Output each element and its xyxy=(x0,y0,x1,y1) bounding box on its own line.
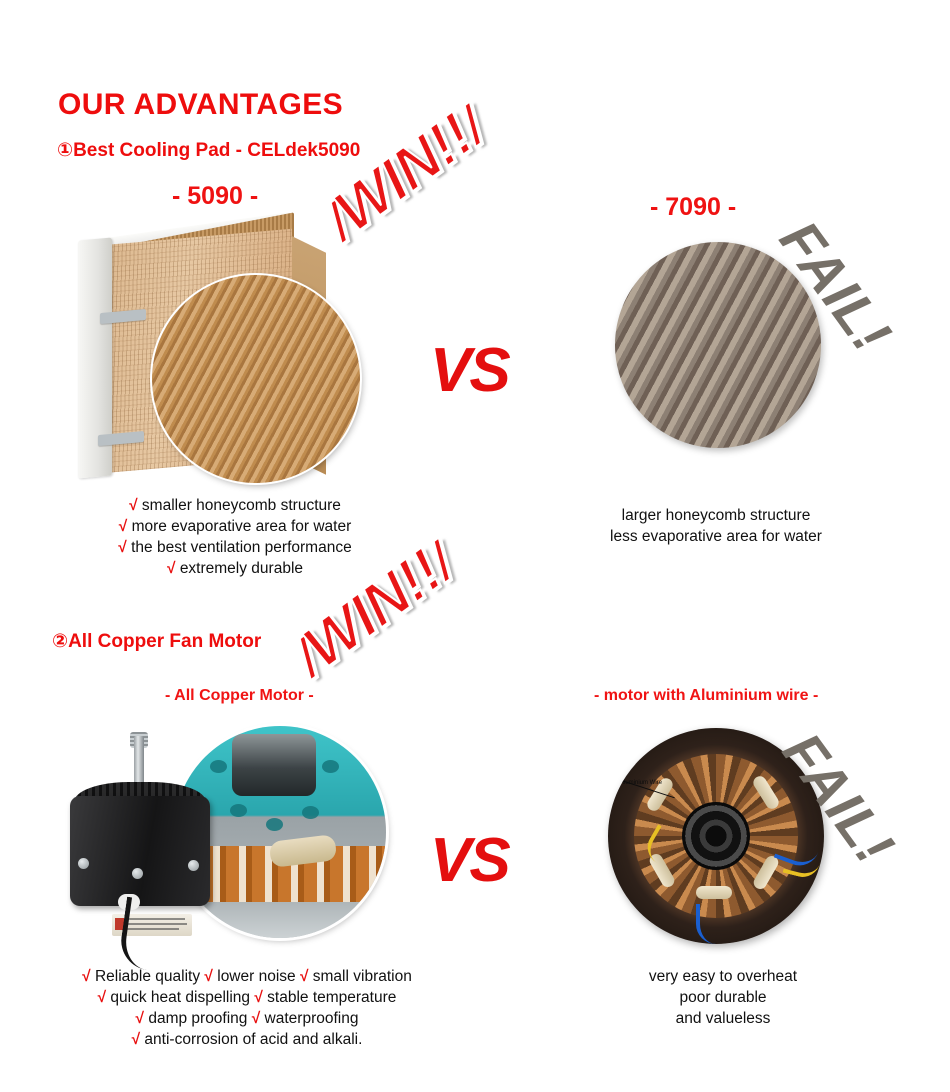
check-icon: √ xyxy=(300,968,309,985)
motor-vent-hole xyxy=(266,818,283,831)
model-label-7090: - 7090 - xyxy=(650,193,736,222)
check-icon: √ xyxy=(254,989,263,1006)
check-icon: √ xyxy=(204,968,213,985)
blue-lead-wire xyxy=(696,904,722,944)
caption-line: √ damp proofing √ waterproofing xyxy=(52,1008,442,1029)
model-label-5090: - 5090 - xyxy=(172,182,258,211)
motor-bolt xyxy=(78,858,89,869)
caption-text: smaller honeycomb structure xyxy=(142,497,341,514)
caption-text: extremely durable xyxy=(180,560,303,577)
caption-line: larger honeycomb structure xyxy=(566,505,866,526)
stator-hub xyxy=(682,802,750,870)
caption-line: √ the best ventilation performance xyxy=(70,537,400,558)
check-icon: √ xyxy=(129,497,142,514)
caption-line: √ Reliable quality √ lower noise √ small… xyxy=(52,966,442,987)
caption-line: √ extremely durable xyxy=(70,558,400,579)
motor-vent-hole xyxy=(302,806,319,819)
check-icon: √ xyxy=(167,560,180,577)
caption-line: √ anti-corrosion of acid and alkali. xyxy=(52,1029,442,1050)
motor-vent-hole xyxy=(210,760,227,773)
caption-text: damp proofing √ waterproofing xyxy=(148,1010,358,1027)
check-icon: √ xyxy=(98,989,111,1006)
cooling-pad-5090-photo xyxy=(72,225,372,487)
check-icon: √ xyxy=(82,968,95,985)
motor-hub xyxy=(232,734,316,796)
section-2-heading: ②All Copper Fan Motor xyxy=(52,630,261,653)
check-icon: √ xyxy=(132,1031,145,1048)
motor-bolt xyxy=(132,868,143,879)
caption-line: and valueless xyxy=(583,1008,863,1029)
check-icon: √ xyxy=(136,1010,149,1027)
motor-vent-hole xyxy=(322,760,339,773)
caption-line: √ more evaporative area for water xyxy=(70,516,400,537)
motor-bolt xyxy=(188,860,199,871)
caption-text: Reliable quality √ lower noise √ small v… xyxy=(95,968,412,985)
check-icon: √ xyxy=(252,1010,261,1027)
caption-text: larger honeycomb structure xyxy=(622,507,811,524)
check-icon: √ xyxy=(119,518,132,535)
caption-line: less evaporative area for water xyxy=(566,526,866,547)
caption-text: very easy to overheat xyxy=(649,968,797,985)
infographic-canvas: OUR ADVANTAGES ①Best Cooling Pad - CELde… xyxy=(0,0,950,1092)
check-icon: √ xyxy=(118,539,131,556)
caption-text: the best ventilation performance xyxy=(131,539,352,556)
pad-magnified-circle xyxy=(152,275,360,483)
motor-housing xyxy=(70,796,210,906)
winding-sleeve xyxy=(696,886,732,899)
caption-text: less evaporative area for water xyxy=(610,528,822,545)
caption-text: more evaporative area for water xyxy=(132,518,352,535)
vs-badge-1: VS xyxy=(430,340,509,402)
caption-line: very easy to overheat xyxy=(583,966,863,987)
motor-vent-hole xyxy=(230,804,247,817)
caption-text: and valueless xyxy=(676,1010,771,1027)
caption-list-aluminium-motor: very easy to overheatpoor durableand val… xyxy=(583,966,863,1029)
caption-text: quick heat dispelling √ stable temperatu… xyxy=(110,989,396,1006)
section-1-heading: ①Best Cooling Pad - CELdek5090 xyxy=(57,139,360,162)
aluminium-wire-annotation: Aluminium Wire xyxy=(620,780,662,786)
all-copper-motor-photo xyxy=(62,722,382,954)
caption-list-copper-motor: √ Reliable quality √ lower noise √ small… xyxy=(52,966,442,1050)
caption-line: poor durable xyxy=(583,987,863,1008)
motor-power-cable xyxy=(117,897,179,974)
motor-base-plate xyxy=(174,902,386,938)
caption-list-5090: √ smaller honeycomb structure√ more evap… xyxy=(70,495,400,579)
caption-line: √ smaller honeycomb structure xyxy=(70,495,400,516)
caption-text: poor durable xyxy=(679,989,766,1006)
model-label-aluminium-motor: - motor with Aluminium wire - xyxy=(594,687,818,705)
page-title: OUR ADVANTAGES xyxy=(58,88,343,122)
model-label-copper-motor: - All Copper Motor - xyxy=(165,687,314,705)
caption-list-7090: larger honeycomb structureless evaporati… xyxy=(566,505,866,547)
vs-badge-2: VS xyxy=(430,830,509,892)
caption-text: anti-corrosion of acid and alkali. xyxy=(144,1031,362,1048)
caption-line: √ quick heat dispelling √ stable tempera… xyxy=(52,987,442,1008)
